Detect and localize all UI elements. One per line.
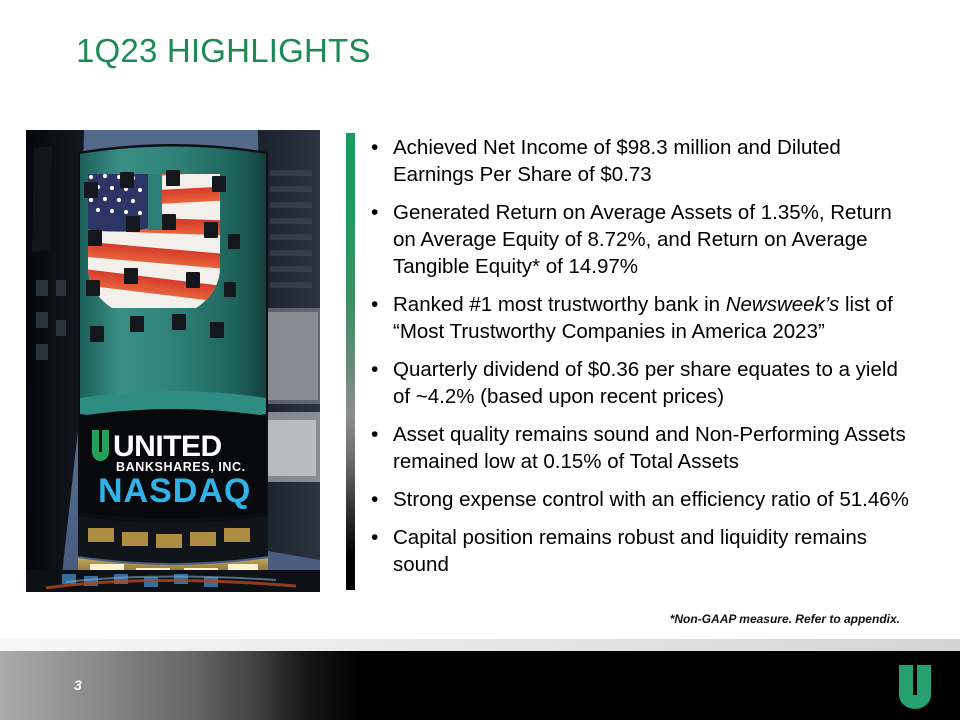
page-number: 3 [74,677,82,693]
list-item: •Capital position remains robust and liq… [368,524,920,578]
bullet-point-icon: • [368,291,393,318]
bullet-point-icon: • [368,199,393,226]
list-item: •Strong expense control with an efficien… [368,486,920,513]
page-title: 1Q23 HIGHLIGHTS [76,32,371,70]
bullet-point-icon: • [368,486,393,513]
highlights-list: •Achieved Net Income of $98.3 million an… [368,134,920,589]
list-item: •Quarterly dividend of $0.36 per share e… [368,356,920,410]
bullet-point-icon: • [368,524,393,551]
list-item: •Asset quality remains sound and Non-Per… [368,421,920,475]
nasdaq-tower-photo: UNITED BANKSHARES, INC. NASDAQ [26,130,320,592]
list-item-text: Achieved Net Income of $98.3 million and… [393,134,920,188]
bullet-point-icon: • [368,356,393,383]
svg-text:UNITED: UNITED [113,430,222,463]
list-item: •Ranked #1 most trustworthy bank in News… [368,291,920,345]
united-bankshares-u-logo [893,663,939,711]
list-item-text: Asset quality remains sound and Non-Perf… [393,421,920,475]
list-item-text: Generated Return on Average Assets of 1.… [393,199,920,280]
vertical-accent-bar [346,133,355,590]
footnote: *Non-GAAP measure. Refer to appendix. [440,612,900,626]
bullet-point-icon: • [368,421,393,448]
footer-light-band [0,639,960,651]
bullet-point-icon: • [368,134,393,161]
footer-dark-band [0,651,960,720]
list-item-text: Quarterly dividend of $0.36 per share eq… [393,356,920,410]
list-item-text: Strong expense control with an efficienc… [393,486,920,513]
list-item: •Achieved Net Income of $98.3 million an… [368,134,920,188]
list-item: •Generated Return on Average Assets of 1… [368,199,920,280]
list-item-text: Ranked #1 most trustworthy bank in Newsw… [393,291,920,345]
list-item-text: Capital position remains robust and liqu… [393,524,920,578]
svg-text:NASDAQ: NASDAQ [98,472,251,510]
